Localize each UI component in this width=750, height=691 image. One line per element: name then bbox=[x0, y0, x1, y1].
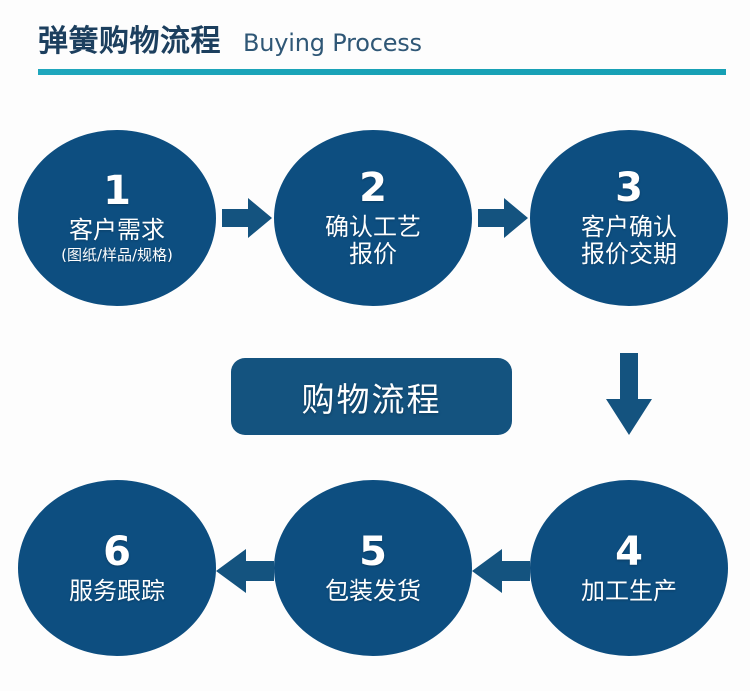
process-node-1[interactable]: 1 客户需求 (图纸/样品/规格) bbox=[18, 130, 216, 306]
arrow-down-icon-3-to-4 bbox=[600, 353, 658, 435]
arrow-left-icon-4-to-5 bbox=[472, 543, 530, 599]
node-label-line2: 报价 bbox=[349, 241, 397, 268]
node-number: 3 bbox=[615, 168, 643, 208]
center-badge: 购物流程 bbox=[231, 358, 512, 435]
node-number: 2 bbox=[359, 168, 387, 208]
arrow-left-icon-5-to-6 bbox=[216, 543, 274, 599]
title-underline-rule bbox=[38, 69, 726, 75]
page-title: 弹簧购物流程 Buying Process bbox=[38, 27, 422, 57]
node-number: 4 bbox=[615, 532, 643, 572]
process-node-5[interactable]: 5 包装发货 bbox=[274, 480, 472, 656]
arrow-right-icon-1-to-2 bbox=[222, 193, 272, 243]
header: 弹簧购物流程 Buying Process bbox=[0, 0, 750, 95]
node-label: 客户确认 bbox=[581, 214, 677, 241]
node-sublabel: (图纸/样品/规格) bbox=[61, 247, 173, 264]
process-node-6[interactable]: 6 服务跟踪 bbox=[18, 480, 216, 656]
process-node-3[interactable]: 3 客户确认 报价交期 bbox=[530, 130, 728, 306]
node-label: 确认工艺 bbox=[325, 214, 421, 241]
process-node-4[interactable]: 4 加工生产 bbox=[530, 480, 728, 656]
node-label: 服务跟踪 bbox=[69, 578, 165, 605]
node-number: 1 bbox=[103, 171, 131, 211]
node-label: 客户需求 bbox=[69, 217, 165, 244]
process-flow: 1 客户需求 (图纸/样品/规格) 2 确认工艺 报价 3 客户确认 报价交期 … bbox=[0, 95, 750, 691]
process-node-2[interactable]: 2 确认工艺 报价 bbox=[274, 130, 472, 306]
center-badge-label: 购物流程 bbox=[302, 373, 442, 421]
node-label: 包装发货 bbox=[325, 578, 421, 605]
node-label: 加工生产 bbox=[581, 578, 677, 605]
arrow-right-icon-2-to-3 bbox=[478, 193, 528, 243]
node-number: 5 bbox=[359, 532, 387, 572]
infographic-canvas: 弹簧购物流程 Buying Process 1 客户需求 (图纸/样品/规格) … bbox=[0, 0, 750, 691]
node-number: 6 bbox=[103, 532, 131, 572]
title-chinese: 弹簧购物流程 bbox=[38, 27, 221, 57]
node-label-line2: 报价交期 bbox=[581, 241, 677, 268]
title-english: Buying Process bbox=[243, 31, 422, 55]
